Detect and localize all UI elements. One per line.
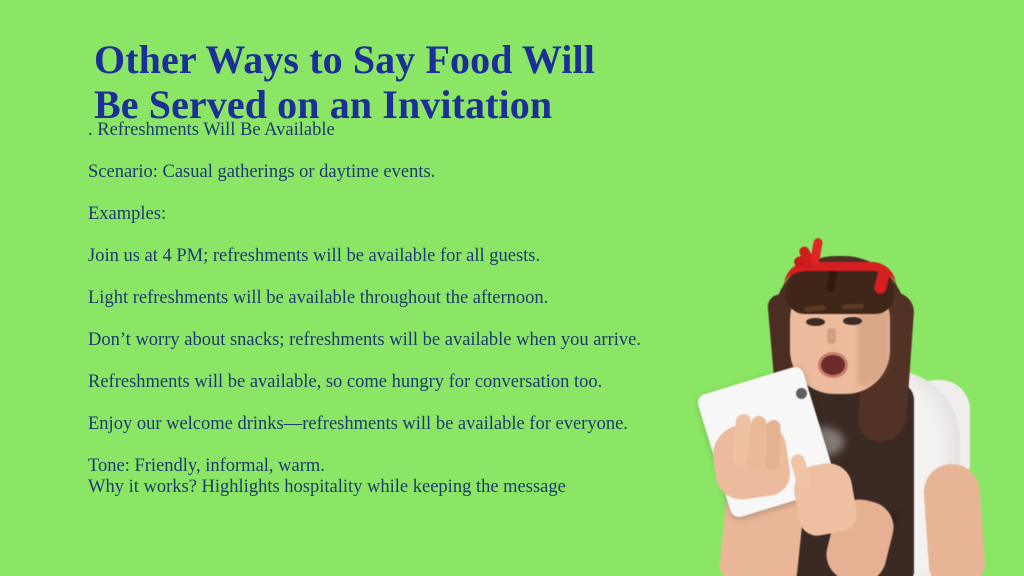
- body-paragraph-example-2: Light refreshments will be available thr…: [88, 288, 656, 309]
- body-paragraph-example-5: Enjoy our welcome drinks—refreshments wi…: [88, 414, 656, 435]
- body-paragraph-example-1: Join us at 4 PM; refreshments will be av…: [88, 246, 656, 267]
- open-mouth: [818, 352, 848, 378]
- body-paragraph-scenario: Scenario: Casual gatherings or daytime e…: [88, 162, 656, 183]
- body-paragraph-examples-label: Examples:: [88, 204, 656, 225]
- body-paragraph-why-it-works: Why it works? Highlights hospitality whi…: [88, 477, 656, 498]
- finger-ring-left: [765, 420, 781, 470]
- body-paragraph-tone: Tone: Friendly, informal, warm.: [88, 456, 656, 477]
- eyebrow-right: [842, 304, 864, 310]
- photo-surprised-woman-with-tablet: [690, 232, 1024, 576]
- eye-right: [843, 317, 862, 325]
- slide-body: . Refreshments Will Be Available Scenari…: [88, 120, 656, 498]
- body-paragraph-example-3: Don’t worry about snacks; refreshments w…: [88, 330, 656, 351]
- slide-canvas: Other Ways to Say Food Will Be Served on…: [0, 0, 1024, 576]
- body-paragraph-heading: . Refreshments Will Be Available: [88, 120, 656, 141]
- eye-left: [806, 318, 825, 326]
- nose: [827, 328, 836, 344]
- page-title: Other Ways to Say Food Will Be Served on…: [94, 37, 694, 127]
- arm-right: [922, 462, 986, 576]
- body-paragraph-example-4: Refreshments will be available, so come …: [88, 372, 656, 393]
- tablet-camera-icon: [796, 388, 807, 399]
